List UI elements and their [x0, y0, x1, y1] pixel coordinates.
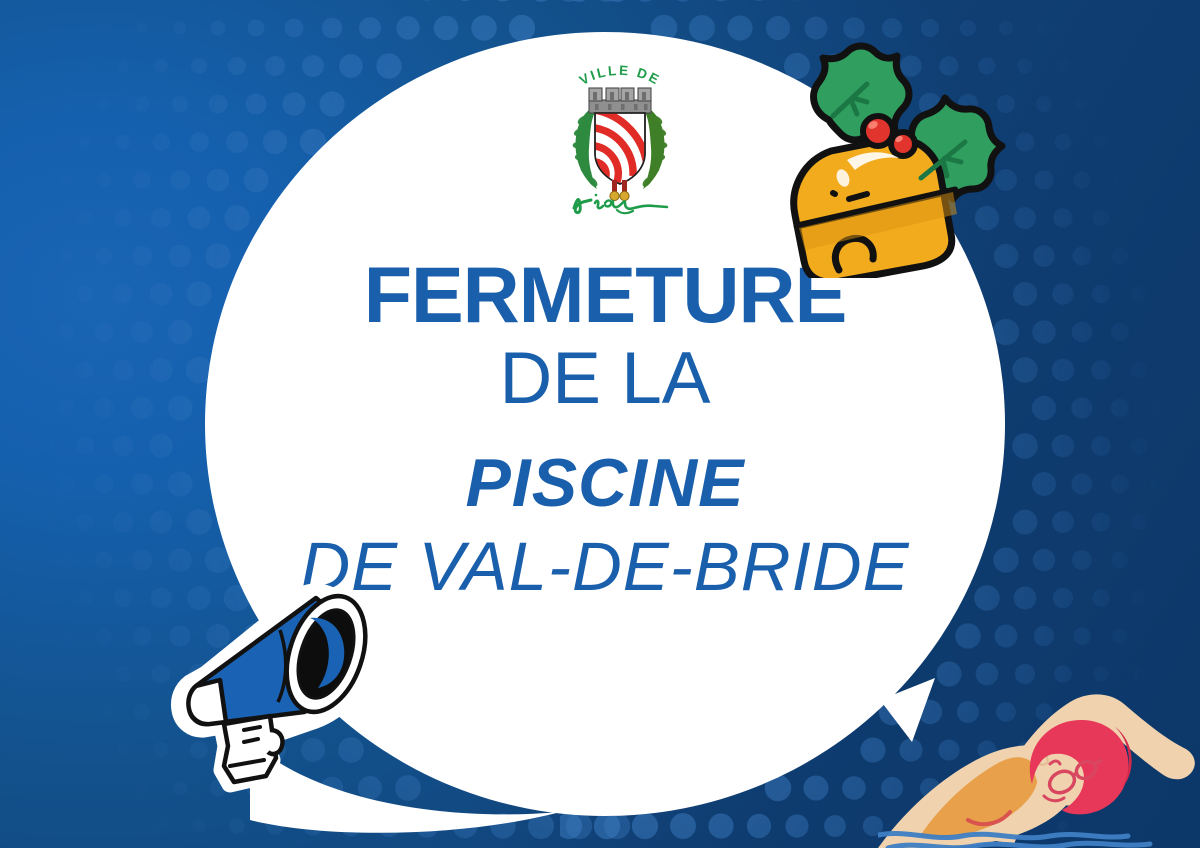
megaphone-icon	[160, 570, 400, 805]
headline-block: FERMETURE DE LA PISCINE DE VAL-DE-BRIDE	[205, 255, 1005, 605]
poster-canvas: VILLE DE	[0, 0, 1200, 848]
christmas-bell-icon	[775, 38, 1010, 278]
logo-top-text: VILLE DE	[577, 63, 663, 88]
headline-line-2: DE LA	[205, 338, 1005, 420]
headline-line-3: PISCINE	[205, 443, 1005, 523]
ville-de-dieuze-logo: VILLE DE	[555, 58, 685, 218]
shield	[595, 110, 647, 184]
mural-crown	[589, 88, 651, 113]
svg-text:VILLE DE: VILLE DE	[577, 63, 663, 88]
swimmer-illustration	[878, 686, 1200, 848]
